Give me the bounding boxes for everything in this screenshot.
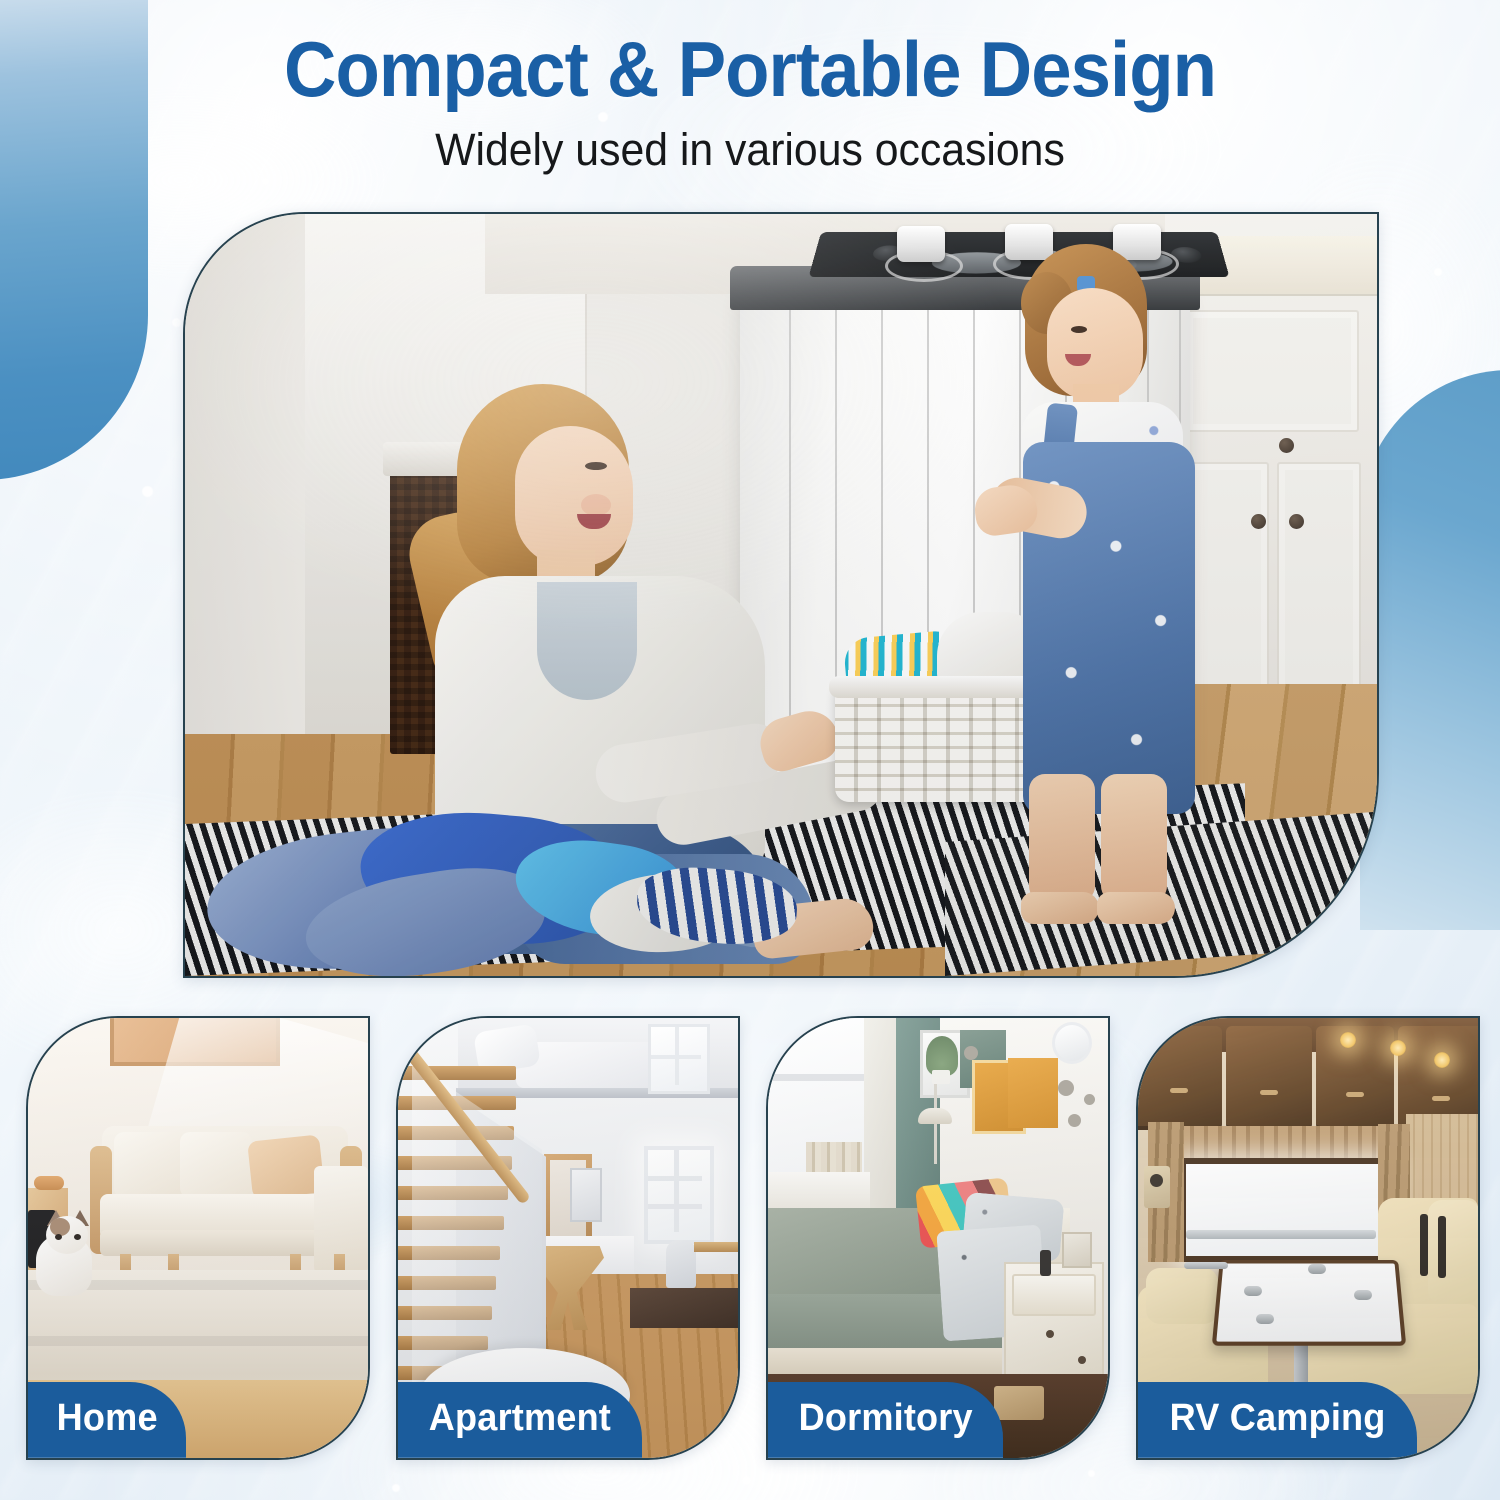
hero-image [183, 212, 1379, 978]
storage-basket [994, 1386, 1044, 1420]
page-subtitle: Widely used in various occasions [38, 124, 1463, 176]
woman-face [515, 426, 633, 566]
round-mirror [1052, 1022, 1092, 1064]
decorative-shape-right [1360, 370, 1500, 930]
laundry-basket [835, 684, 1043, 802]
header: Compact & Portable Design Widely used in… [0, 30, 1500, 176]
picture-frame [1062, 1232, 1092, 1268]
washer-knob-2[interactable] [1005, 224, 1053, 260]
window-upper [648, 1024, 710, 1094]
thumbnail-apartment[interactable]: Apartment [396, 1016, 740, 1460]
books [806, 1142, 862, 1172]
thumbnail-label-dormitory: Dormitory [768, 1382, 1003, 1458]
overhead-cabinet-2 [1226, 1026, 1312, 1130]
thumbnail-home[interactable]: Home [26, 1016, 370, 1460]
thumbnail-dormitory[interactable]: Dormitory [766, 1016, 1110, 1460]
page-title: Compact & Portable Design [53, 30, 1448, 108]
marketing-image-page: Compact & Portable Design Widely used in… [0, 0, 1500, 1500]
wall-shelf-yellow-2 [1008, 1058, 1058, 1128]
window-lower [644, 1146, 714, 1244]
ceiling-light-2 [1390, 1040, 1406, 1056]
thumbnail-label-apartment-text: Apartment [429, 1397, 611, 1440]
overhead-cabinet-1 [1136, 1026, 1222, 1130]
thumbnail-label-home-text: Home [57, 1397, 158, 1440]
thumbnail-label-home: Home [28, 1382, 186, 1458]
hanging-lamp [918, 1108, 952, 1124]
thumbnail-label-apartment: Apartment [398, 1382, 642, 1458]
thumbnail-rv-camping[interactable]: RV Camping [1136, 1016, 1480, 1460]
rv-window [1180, 1158, 1394, 1262]
thumbnail-label-rv-camping: RV Camping [1138, 1382, 1417, 1458]
washer-knob-1[interactable] [897, 226, 945, 262]
ceiling-light-3 [1434, 1052, 1450, 1068]
ceiling-light-1 [1340, 1032, 1356, 1048]
hero-scene [185, 214, 1377, 976]
thumbnail-label-rv-camping-text: RV Camping [1170, 1397, 1386, 1440]
thumbnail-label-dormitory-text: Dormitory [799, 1397, 973, 1440]
thumbnail-row: Home [0, 1016, 1500, 1466]
